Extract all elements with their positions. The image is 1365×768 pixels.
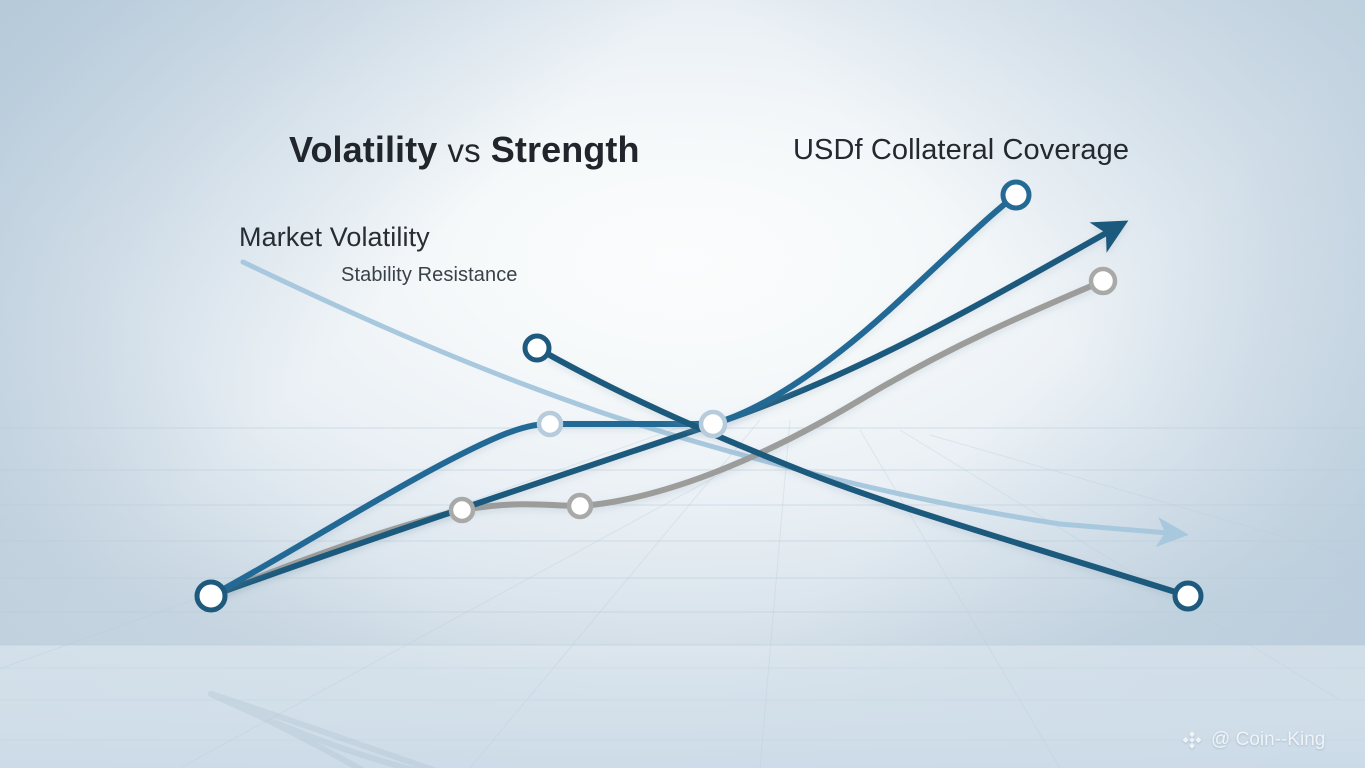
series-label-usdf-coverage: USDf Collateral Coverage xyxy=(793,134,1129,167)
data-point-marker xyxy=(197,582,225,610)
data-point-marker xyxy=(1091,269,1115,293)
data-point-marker xyxy=(701,412,725,436)
data-point-marker xyxy=(569,495,591,517)
series-layer xyxy=(0,0,1365,768)
series-path-usdf-coverage xyxy=(211,195,1016,596)
watermark-handle: @ Coin--King xyxy=(1211,729,1325,751)
series-path-stability-resistance xyxy=(537,348,1188,596)
page-title: Volatility vs Strength xyxy=(289,129,640,171)
title-part-one: Volatility xyxy=(289,129,437,170)
data-point-marker xyxy=(1175,583,1201,609)
data-point-marker xyxy=(539,413,561,435)
data-point-marker xyxy=(1003,182,1029,208)
title-connector: vs xyxy=(447,132,480,169)
data-point-marker xyxy=(451,499,473,521)
diamond-logo-icon xyxy=(1180,728,1204,752)
series-label-market-volatility: Market Volatility xyxy=(239,222,430,253)
series-path-market-volatility xyxy=(243,262,1168,533)
watermark: @ Coin--King xyxy=(1180,728,1325,752)
title-part-two: Strength xyxy=(491,129,640,170)
chart-canvas: Volatility vs Strength USDf Collateral C… xyxy=(0,0,1365,768)
data-point-marker xyxy=(525,336,549,360)
series-label-stability-resistance: Stability Resistance xyxy=(341,264,518,287)
